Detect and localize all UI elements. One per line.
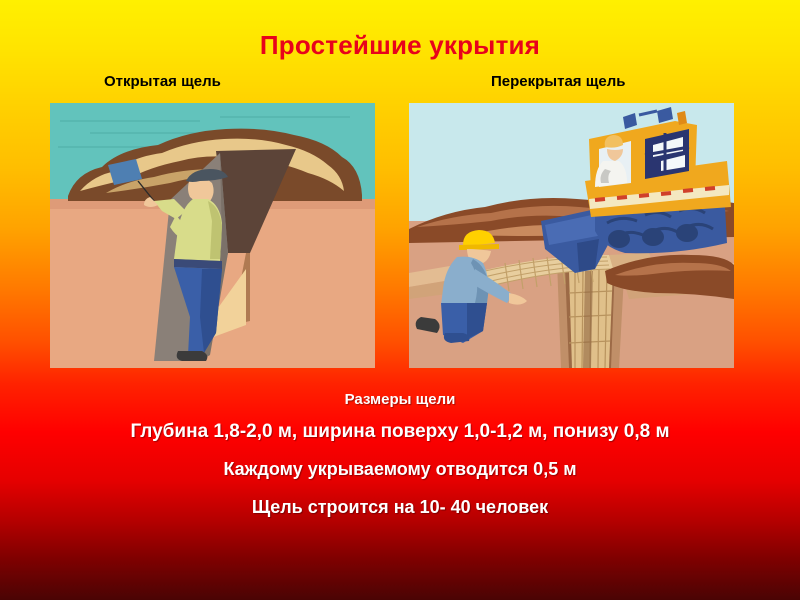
dimensions-heading: Размеры щели bbox=[0, 391, 800, 408]
covered-trench-svg bbox=[409, 103, 734, 368]
illustration-covered-trench bbox=[409, 103, 734, 368]
dimensions-line-per-person: Каждому укрываемому отводится 0,5 м bbox=[0, 459, 800, 480]
caption-covered-trench: Перекрытая щель bbox=[491, 73, 625, 90]
dimensions-line-capacity: Щель строится на 10- 40 человек bbox=[0, 497, 800, 518]
slide-canvas: Простейшие укрытия Открытая щель Перекры… bbox=[0, 0, 800, 600]
helmet-brim bbox=[459, 244, 499, 250]
dimensions-text-block: Размеры щели Глубина 1,8-2,0 м, ширина п… bbox=[0, 391, 800, 518]
dimensions-line-depth-width: Глубина 1,8-2,0 м, ширина поверху 1,0-1,… bbox=[0, 421, 800, 443]
caption-open-trench: Открытая щель bbox=[104, 73, 221, 90]
page-title: Простейшие укрытия bbox=[0, 31, 800, 60]
track-roller-3 bbox=[676, 224, 698, 242]
open-trench-svg bbox=[50, 103, 375, 368]
worker-boot bbox=[177, 351, 208, 361]
track-roller-2 bbox=[642, 228, 664, 246]
illustration-open-trench bbox=[50, 103, 375, 368]
track-roller-1 bbox=[608, 230, 630, 248]
